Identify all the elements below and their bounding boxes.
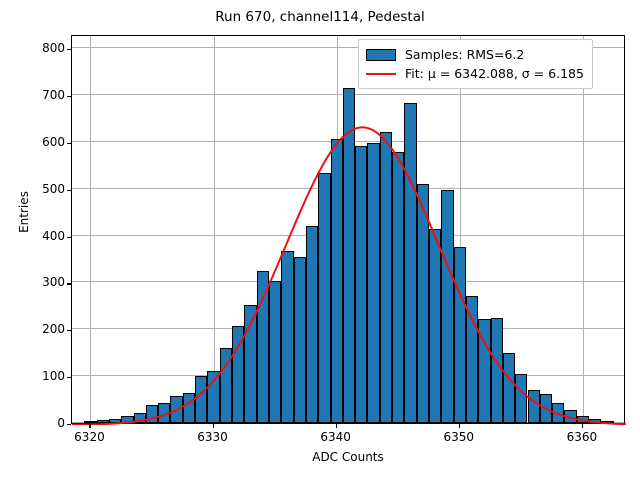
y-tick-label: 800 xyxy=(5,41,65,55)
y-tick-label: 300 xyxy=(5,275,65,289)
fit-polyline xyxy=(72,127,626,424)
chart-title: Run 670, channel114, Pedestal xyxy=(0,9,640,25)
legend: Samples: RMS=6.2 Fit: μ = 6342.088, σ = … xyxy=(358,39,593,89)
x-axis-label: ADC Counts xyxy=(71,450,625,464)
y-tick-label: 100 xyxy=(5,369,65,383)
y-tick-mark xyxy=(67,424,71,425)
y-tick-mark xyxy=(67,96,71,97)
gaussian-fit-curve xyxy=(72,36,624,423)
y-axis-label: Entries xyxy=(17,112,31,312)
x-tick-mark xyxy=(89,424,90,428)
y-tick-mark xyxy=(67,330,71,331)
y-tick-label: 400 xyxy=(5,229,65,243)
y-tick-mark xyxy=(67,237,71,238)
histogram-figure: Run 670, channel114, Pedestal 0100200300… xyxy=(0,0,640,480)
y-tick-label: 0 xyxy=(5,416,65,430)
x-tick-label: 6350 xyxy=(424,430,494,444)
legend-patch-swatch-icon xyxy=(366,49,396,61)
y-tick-label: 700 xyxy=(5,88,65,102)
y-tick-mark xyxy=(67,377,71,378)
x-tick-mark xyxy=(336,424,337,428)
x-tick-mark xyxy=(459,424,460,428)
legend-line-swatch-icon xyxy=(366,73,396,75)
legend-label-fit: Fit: μ = 6342.088, σ = 6.185 xyxy=(405,66,584,81)
x-tick-mark xyxy=(582,424,583,428)
y-tick-mark xyxy=(67,283,71,284)
y-tick-mark xyxy=(67,190,71,191)
legend-label-samples: Samples: RMS=6.2 xyxy=(405,47,524,62)
x-tick-label: 6360 xyxy=(547,430,617,444)
x-tick-label: 6340 xyxy=(301,430,371,444)
legend-item-fit: Fit: μ = 6342.088, σ = 6.185 xyxy=(366,64,584,83)
x-tick-label: 6330 xyxy=(178,430,248,444)
y-tick-mark xyxy=(67,49,71,50)
y-tick-label: 600 xyxy=(5,135,65,149)
y-tick-mark xyxy=(67,143,71,144)
x-tick-mark xyxy=(213,424,214,428)
fit-curve-svg xyxy=(72,36,626,425)
x-tick-label: 6320 xyxy=(54,430,124,444)
legend-item-samples: Samples: RMS=6.2 xyxy=(366,45,584,64)
plot-area xyxy=(71,35,625,424)
y-tick-label: 500 xyxy=(5,182,65,196)
y-tick-label: 200 xyxy=(5,322,65,336)
